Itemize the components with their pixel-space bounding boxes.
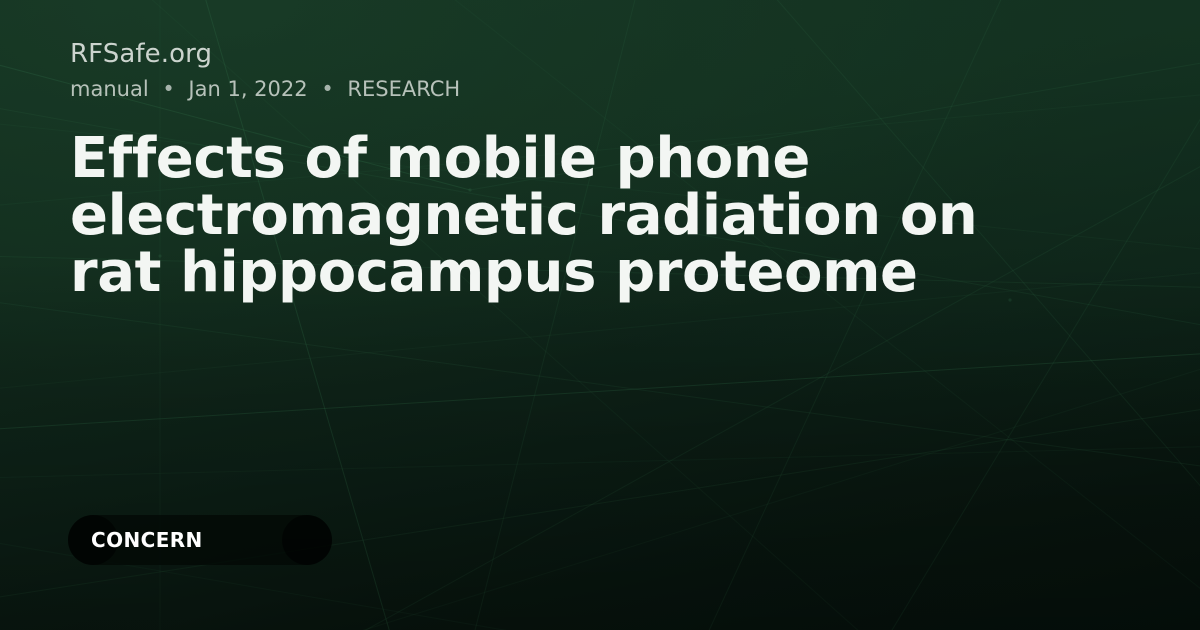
site-name: RFSafe.org xyxy=(70,38,1080,70)
meta-source: manual xyxy=(70,77,149,101)
meta-line: manual • Jan 1, 2022 • RESEARCH xyxy=(70,76,1080,102)
status-badge-label: CONCERN xyxy=(91,515,203,565)
status-badge: CONCERN xyxy=(68,515,332,565)
badge-cap-right xyxy=(282,515,332,565)
meta-category: RESEARCH xyxy=(347,77,460,101)
meta-separator-1: • xyxy=(155,77,181,101)
meta-date: Jan 1, 2022 xyxy=(188,77,307,101)
page-title: Effects of mobile phone electromagnetic … xyxy=(70,130,1070,301)
og-share-card: RFSafe.org manual • Jan 1, 2022 • RESEAR… xyxy=(0,0,1200,630)
card-content: RFSafe.org manual • Jan 1, 2022 • RESEAR… xyxy=(70,38,1080,301)
meta-separator-2: • xyxy=(314,77,340,101)
